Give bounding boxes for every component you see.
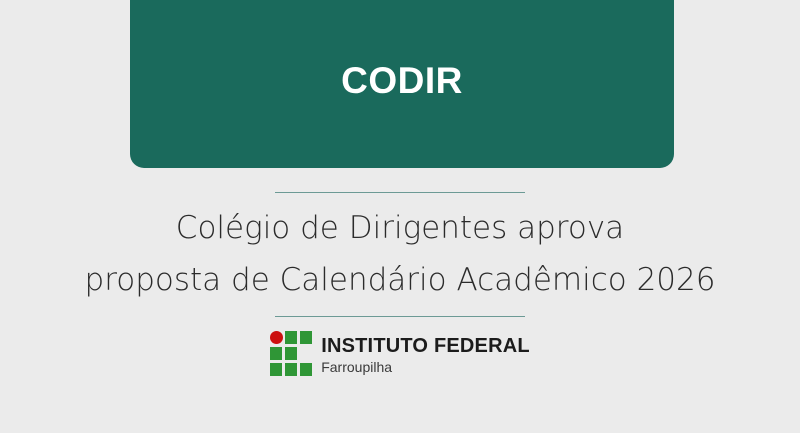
rule-top-divider <box>275 192 525 193</box>
institution-logo-inner: INSTITUTO FEDERAL Farroupilha <box>270 331 530 379</box>
codir-banner: CODIR <box>130 0 674 168</box>
rule-bottom-divider <box>275 316 525 317</box>
headline-block: Colégio de Dirigentes aprova proposta de… <box>0 192 800 317</box>
page-title-line-2: proposta de Calendário Acadêmico 2026 <box>85 254 716 306</box>
institution-logo: INSTITUTO FEDERAL Farroupilha <box>0 331 800 379</box>
instituto-federal-grid-mark-icon <box>270 331 312 379</box>
page-title-line-1: Colégio de Dirigentes aprova <box>85 202 716 254</box>
page-title: Colégio de Dirigentes aprova proposta de… <box>85 202 716 306</box>
banner-label: CODIR <box>341 62 463 99</box>
institution-logo-wordmark: INSTITUTO FEDERAL Farroupilha <box>321 336 530 374</box>
institution-name-primary: INSTITUTO FEDERAL <box>321 336 530 356</box>
institution-name-secondary: Farroupilha <box>321 360 530 374</box>
announcement-card: CODIR Colégio de Dirigentes aprova propo… <box>0 0 800 433</box>
